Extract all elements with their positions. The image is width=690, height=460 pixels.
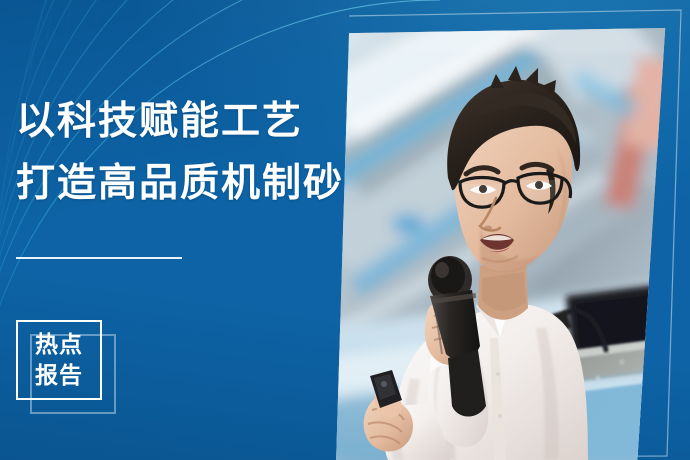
hot-report-banner: 以科技赋能工艺 打造高品质机制砂 热点 报告 xyxy=(0,0,690,460)
badge-frame: 热点 报告 xyxy=(16,320,102,400)
headline-line-1: 以科技赋能工艺 xyxy=(16,91,336,153)
speaker-photo xyxy=(330,28,670,460)
badge-line-2: 报告 xyxy=(35,360,83,391)
hot-report-badge: 热点 报告 xyxy=(16,320,128,420)
badge-line-1: 热点 xyxy=(35,329,83,360)
headline: 以科技赋能工艺 打造高品质机制砂 xyxy=(16,91,336,215)
headline-divider xyxy=(16,257,182,259)
headline-line-2: 打造高品质机制砂 xyxy=(16,153,336,215)
speaker-photo-image xyxy=(330,28,670,460)
